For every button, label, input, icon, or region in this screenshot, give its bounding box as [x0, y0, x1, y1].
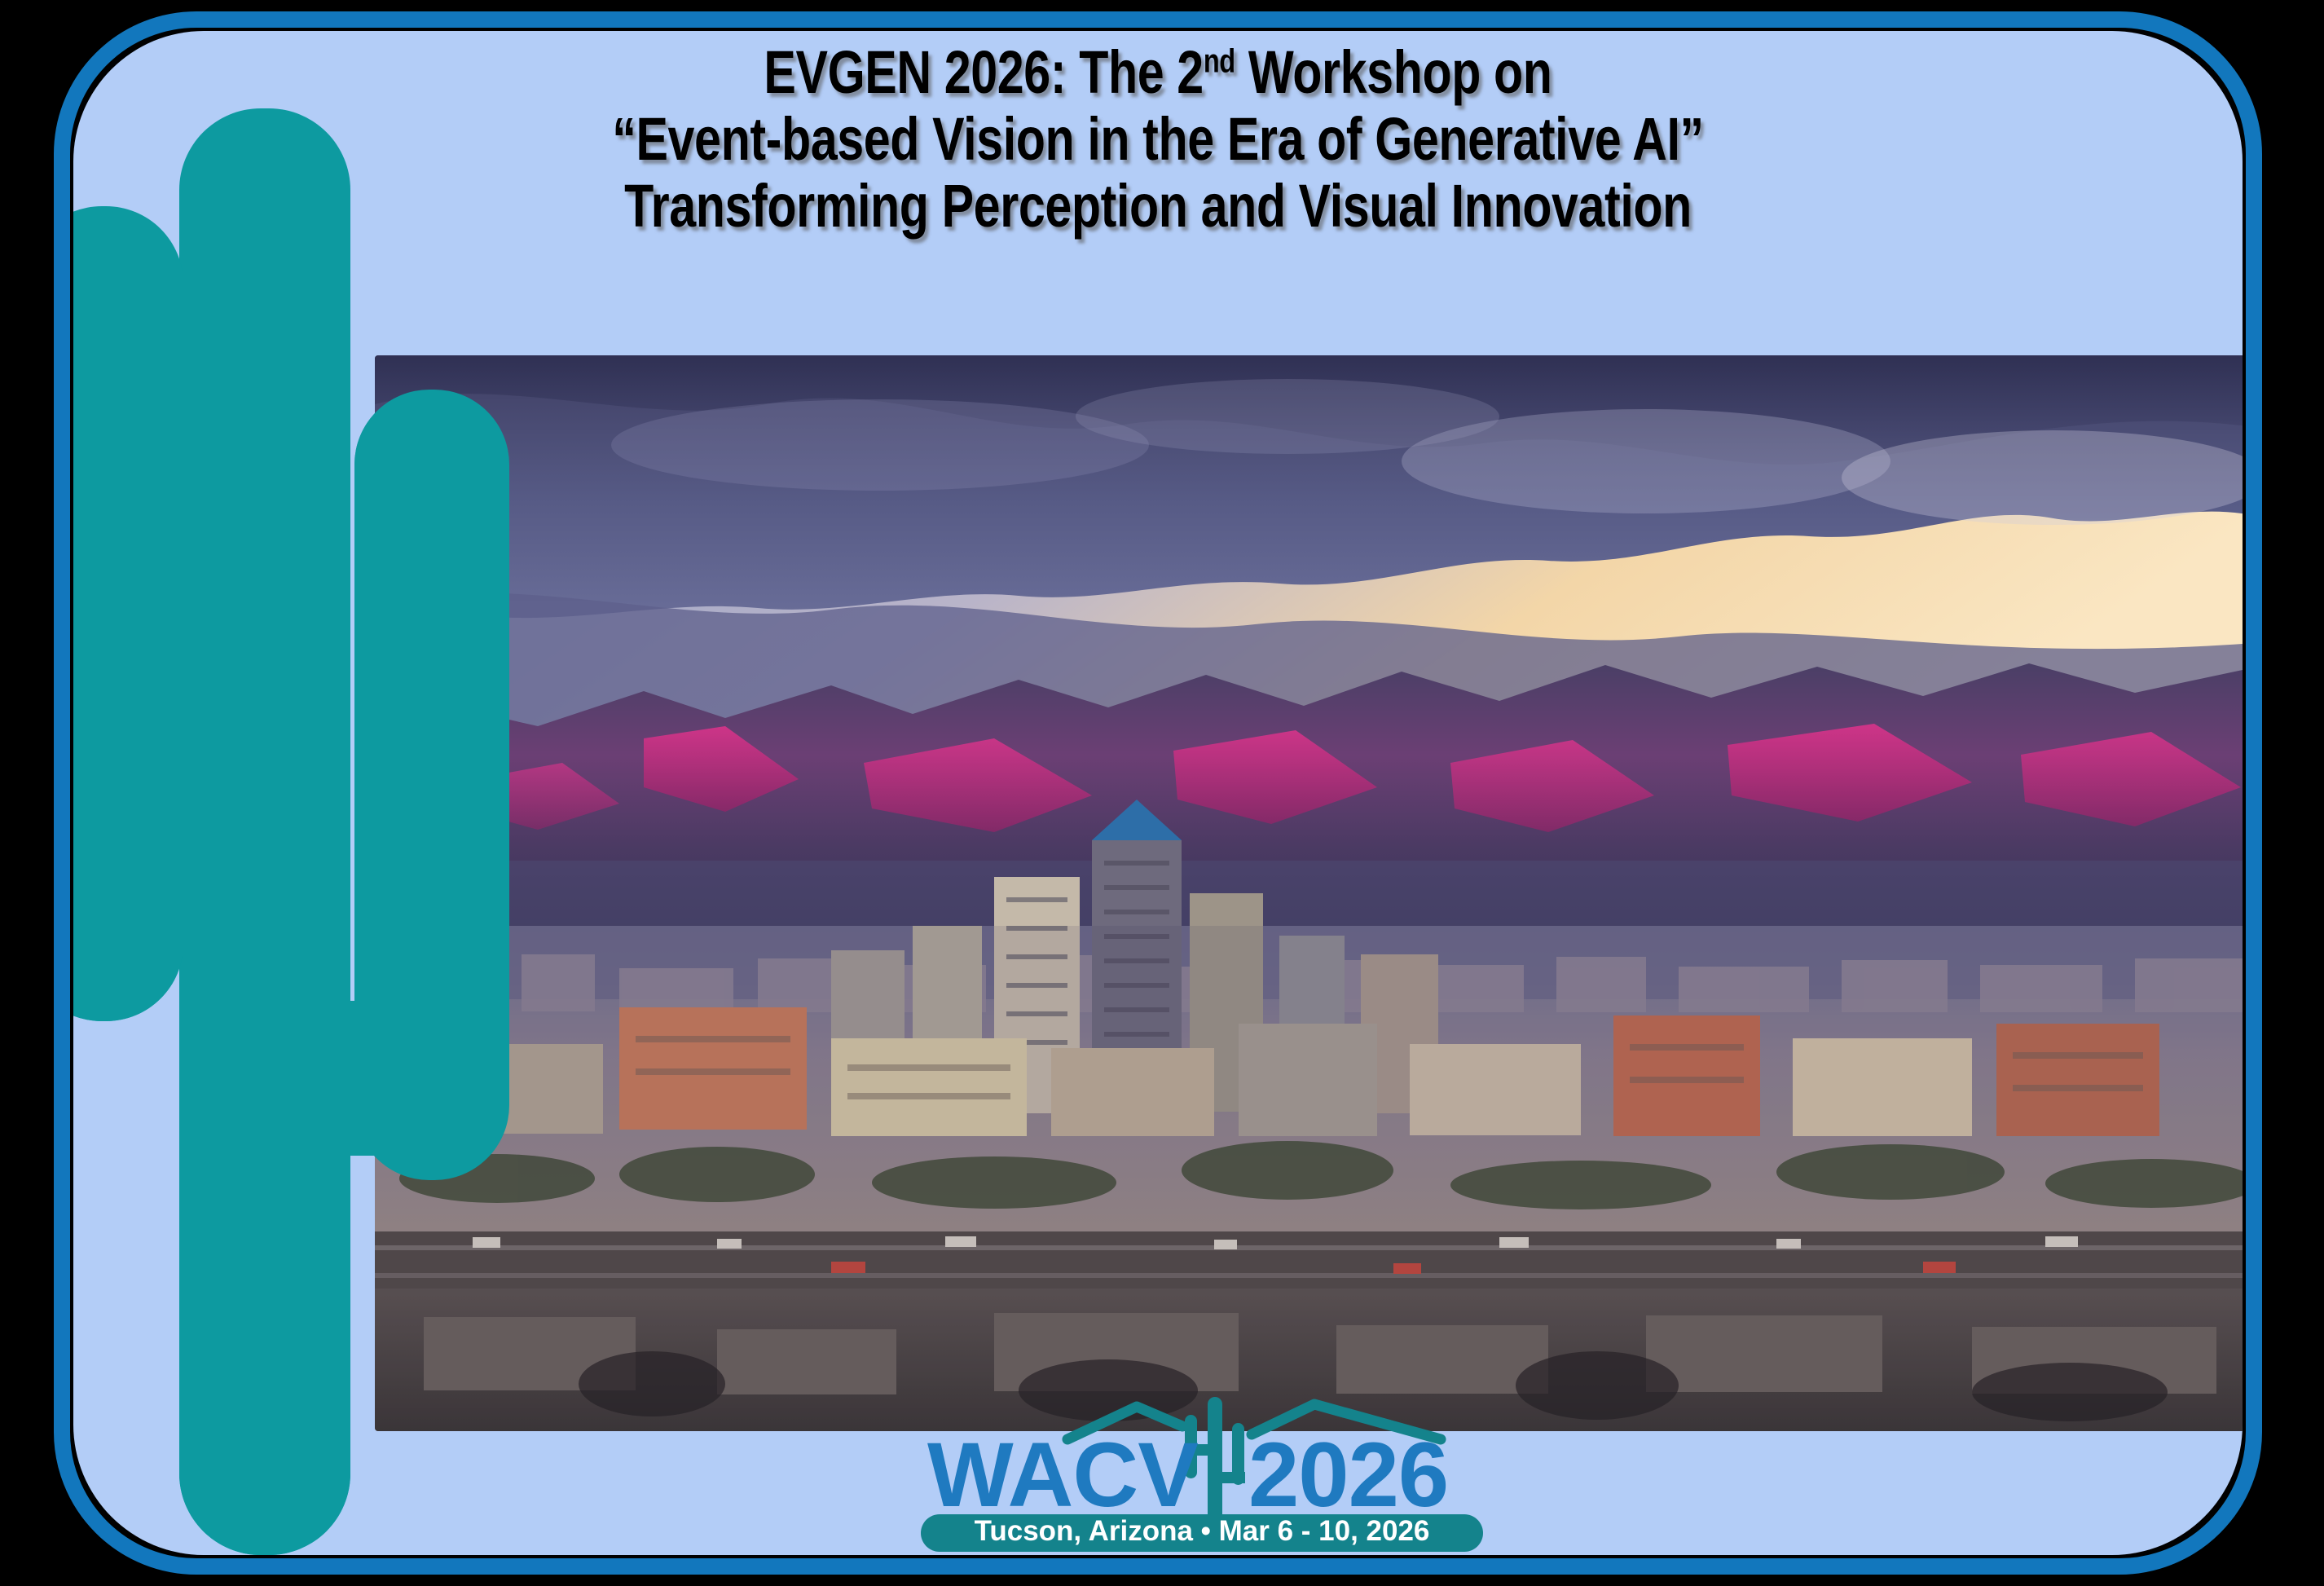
- tucson-cityscape-photo: [375, 355, 2243, 1431]
- wacv-wordmark: WACV: [927, 1424, 1198, 1526]
- wacv-logo: WACV 2026 Tucson, Arizona • Mar 6 - 10, …: [903, 1386, 1506, 1557]
- wacv-year: 2026: [1248, 1424, 1448, 1526]
- cactus-foreground-overlay: [73, 355, 644, 1555]
- poster-root: EVGEN 2026: The 2nd Workshop on “Event-b…: [0, 0, 2324, 1586]
- date-badge-label: Tucson, Arizona • Mar 6 - 10, 2026: [975, 1515, 1430, 1547]
